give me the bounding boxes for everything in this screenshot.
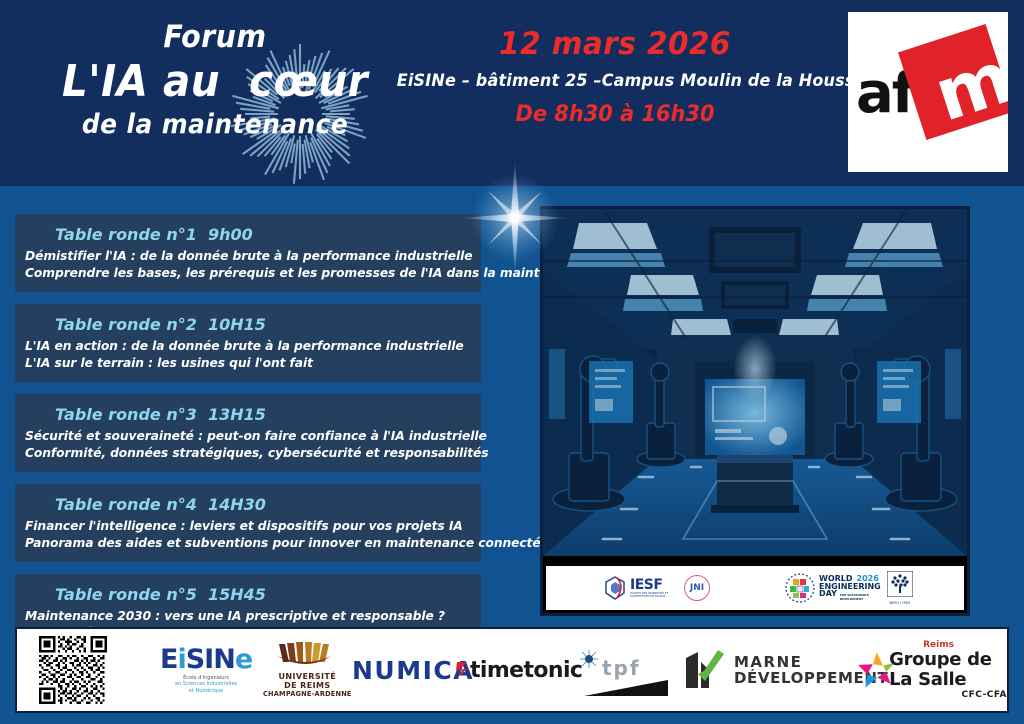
jni-label: JNI <box>690 583 704 593</box>
session-card[interactable]: Table ronde n°4 14H30 Financer l'intelli… <box>15 484 481 562</box>
wfeo-tree-icon <box>887 571 913 597</box>
iesf-label: IESF <box>630 578 678 592</box>
session-line-1: L'IA en action : de la donnée brute à la… <box>25 338 471 355</box>
partners-bar: EiSINe École d'ingénieurs en Sciences In… <box>15 627 1009 713</box>
wed-line-3: DAY <box>819 590 837 598</box>
urca-label-3: CHAMPAGNE-ARDENNE <box>263 690 352 698</box>
title-main: L'IA au cœur <box>45 56 385 108</box>
factory-image-panel: IESF SOCIETE DES INGENIEURS ET SCIENTIFI… <box>540 206 970 616</box>
session-line-1: Financer l'intelligence : leviers et dis… <box>25 518 471 535</box>
tpf-burst-icon <box>580 650 598 668</box>
poster-title: Forum L'IA au cœur de la maintenance <box>30 18 400 142</box>
jni-logo: JNI <box>684 575 710 601</box>
session-line-2: Panorama des aides et subventions pour i… <box>25 535 471 552</box>
session-line-2: L'IA sur le terrain : les usines qui l'o… <box>25 355 471 372</box>
eisine-logo[interactable]: EiSINe École d'ingénieurs en Sciences In… <box>160 629 252 711</box>
session-title: Table ronde n°2 10H15 <box>25 312 471 338</box>
wfeo-fmoi-logo: WFEO / FMOI <box>887 571 913 605</box>
event-location: EiSINe – bâtiment 25 –Campus Moulin de l… <box>397 66 834 96</box>
eisine-wordmark: EiSINe <box>160 646 252 674</box>
eisine-sub-3: et Numérique <box>160 688 252 694</box>
session-line-2: Conformité, données stratégiques, cybers… <box>25 445 471 462</box>
event-date: 12 mars 2026 <box>401 22 829 66</box>
image-logos-strip: IESF SOCIETE DES INGENIEURS ET SCIENTIFI… <box>543 563 967 613</box>
universite-reims-logo[interactable]: UNIVERSITÉ DE REIMS CHAMPAGNE-ARDENNE <box>263 629 352 711</box>
iesf-jni-group: IESF SOCIETE DES INGENIEURS ET SCIENTIFI… <box>604 575 710 601</box>
tpf-logo[interactable]: tpf <box>580 629 670 711</box>
title-subtitle: de la maintenance <box>45 108 385 142</box>
poster-root: Forum L'IA au cœur de la maintenance 12 … <box>0 0 1024 724</box>
factory-image <box>543 209 967 556</box>
session-title: Table ronde n°3 13H15 <box>25 402 471 428</box>
globe-icon <box>784 572 816 604</box>
session-line-1: Démistifier l'IA : de la donnée brute à … <box>25 248 471 265</box>
event-info: 12 mars 2026 EiSINe – bâtiment 25 –Campu… <box>390 22 840 134</box>
title-forum: Forum <box>45 18 385 56</box>
urca-crown-icon <box>275 642 339 668</box>
lasalle-sublabel: CFC-CFA <box>889 690 1007 700</box>
session-card[interactable]: Table ronde n°1 9h00 Démistifier l'IA : … <box>15 214 481 292</box>
marne-mark-icon <box>684 648 728 692</box>
groupe-de-la-salle-logo[interactable]: Reims Groupe de La Salle CFC-CFA <box>857 629 1007 711</box>
poster-header: Forum L'IA au cœur de la maintenance 12 … <box>0 0 1024 186</box>
iesf-mark-icon <box>604 575 626 601</box>
iesf-sublabel: SOCIETE DES INGENIEURS ET SCIENTIFIQUES … <box>630 592 678 599</box>
session-title: Table ronde n°4 14H30 <box>25 492 471 518</box>
wfeo-label: WFEO / FMOI <box>887 601 913 605</box>
wed-tagline: FOR SUSTAINABLE DEVELOPMENT <box>840 594 876 601</box>
afim-logo: afi m <box>848 12 1008 172</box>
timetonic-logo[interactable]: timetonic <box>455 629 582 711</box>
urca-label-2: DE REIMS <box>263 681 352 690</box>
timetonic-wordmark: timetonic <box>470 658 582 683</box>
session-line-1: Sécurité et souveraineté : peut-on faire… <box>25 428 471 445</box>
sessions-list: Table ronde n°1 9h00 Démistifier l'IA : … <box>15 214 481 664</box>
lasalle-wordmark: Groupe de La Salle <box>889 650 1007 690</box>
session-card[interactable]: Table ronde n°2 10H15 L'IA en action : d… <box>15 304 481 382</box>
urca-label-1: UNIVERSITÉ <box>263 672 352 681</box>
qr-code[interactable] <box>39 629 107 711</box>
timetonic-mark-icon <box>455 661 469 679</box>
session-line-1: Maintenance 2030 : vers une IA prescript… <box>25 608 471 625</box>
session-card[interactable]: Table ronde n°3 13H15 Sécurité et souver… <box>15 394 481 472</box>
tpf-wedge-icon <box>584 678 668 698</box>
tpf-wordmark: tpf <box>602 656 641 680</box>
session-line-2: Comprendre les bases, les prérequis et l… <box>25 265 471 282</box>
session-title: Table ronde n°5 15H45 <box>25 582 471 608</box>
world-engineering-day-group: WORLD 2026 ENGINEERING DAY FOR SUSTAINAB… <box>784 571 913 605</box>
qr-code-icon <box>39 636 107 704</box>
session-title: Table ronde n°1 9h00 <box>25 222 471 248</box>
event-hours: De 8h30 à 16h30 <box>401 96 829 134</box>
